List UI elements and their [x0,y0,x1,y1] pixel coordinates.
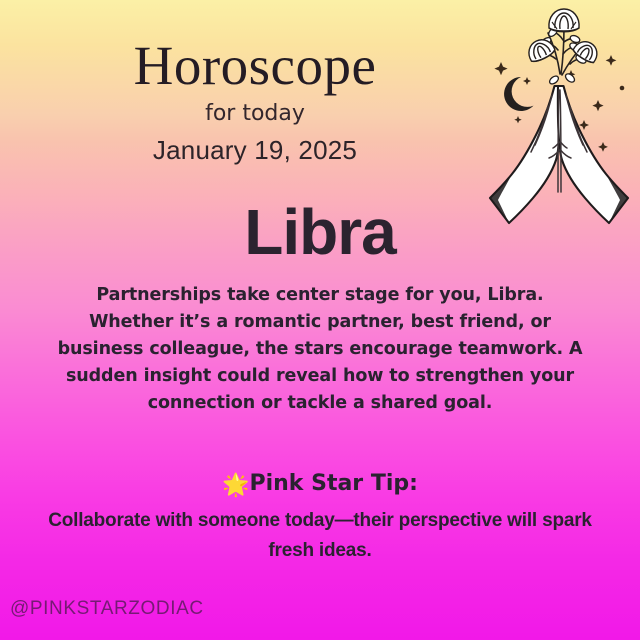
date-label: January 19, 2025 [0,134,640,166]
horoscope-card: Horoscope for today January 19, 2025 Lib… [0,0,640,640]
glowing-star-icon: 🌟 [222,473,249,498]
horoscope-body-text: Partnerships take center stage for you, … [54,282,586,417]
pink-star-tip-text: Collaborate with someone today—their per… [48,506,592,566]
subtitle: for today [0,100,640,128]
watermark-handle: @PINKSTARZODIAC [10,598,204,620]
page-title: Horoscope [0,36,640,96]
pink-star-tip-label: Pink Star Tip: [249,471,417,496]
pink-star-tip-heading: 🌟Pink Star Tip: [0,470,640,500]
zodiac-sign-name: Libra [0,194,640,270]
